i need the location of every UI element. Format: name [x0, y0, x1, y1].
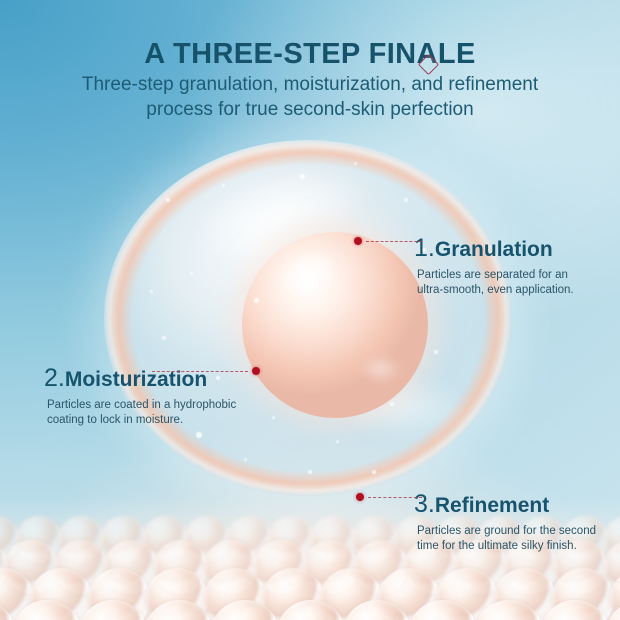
bubble-sparkle	[300, 174, 305, 179]
dashed-line-3	[368, 497, 422, 498]
marker-dot-2	[252, 367, 260, 375]
step-heading-2: 2.Moisturization	[44, 366, 236, 392]
subtitle-line-1: Three-step granulation, moisturization, …	[50, 72, 570, 97]
step-number-2: 2.	[44, 364, 65, 392]
step-body-1-line-1: Particles are separated for an	[417, 268, 574, 283]
step-callout-refinement: 3.Refinement Particles are ground for th…	[414, 492, 596, 554]
page-subtitle: Three-step granulation, moisturization, …	[50, 72, 570, 122]
step-heading-3: 3.Refinement	[414, 492, 596, 518]
step-body-1-line-2: ultra-smooth, even application.	[417, 283, 574, 298]
step-body-1: Particles are separated for an ultra-smo…	[417, 268, 574, 298]
step-heading-1: 1.Granulation	[414, 236, 574, 262]
bubble-sparkle	[434, 350, 438, 354]
step-number-3: 3.	[414, 490, 435, 518]
step-body-3-line-2: time for the ultimate silky finish.	[417, 539, 596, 554]
bubble-sparkle	[166, 198, 170, 202]
bubble-sparkle	[354, 162, 357, 165]
step-name-3: Refinement	[435, 494, 549, 517]
step-body-2-line-1: Particles are coated in a hydrophobic	[47, 398, 236, 413]
step-callout-granulation: 1.Granulation Particles are separated fo…	[414, 236, 574, 298]
bubble-sparkle	[196, 432, 202, 438]
dashed-line-1	[366, 241, 422, 242]
marker-dot-1	[354, 237, 362, 245]
subtitle-line-2: process for true second-skin perfection	[50, 97, 570, 122]
infographic-canvas: A THREE-STEP FINALE Three-step granulati…	[0, 0, 620, 620]
bubble-sparkle	[244, 458, 247, 461]
dashed-line-2	[152, 371, 248, 372]
bubble-sparkle	[404, 198, 408, 202]
central-bubble	[104, 140, 512, 496]
bubble-sparkle	[372, 470, 376, 474]
step-body-3-line-1: Particles are ground for the second	[417, 524, 596, 539]
step-callout-moisturization: 2.Moisturization Particles are coated in…	[44, 366, 236, 428]
step-body-2: Particles are coated in a hydrophobic co…	[47, 398, 236, 428]
step-name-1: Granulation	[435, 238, 553, 261]
pearl-secondary-highlight	[354, 352, 408, 386]
step-body-2-line-2: coating to lock in moisture.	[47, 413, 236, 428]
bubble-sparkle	[150, 290, 153, 293]
bubble-sparkle	[390, 402, 394, 406]
step-body-3: Particles are ground for the second time…	[417, 524, 596, 554]
step-number-1: 1.	[414, 234, 435, 262]
marker-dot-3	[356, 493, 364, 501]
bubble-sparkle	[162, 336, 166, 340]
page-title: A THREE-STEP FINALE	[0, 38, 620, 71]
